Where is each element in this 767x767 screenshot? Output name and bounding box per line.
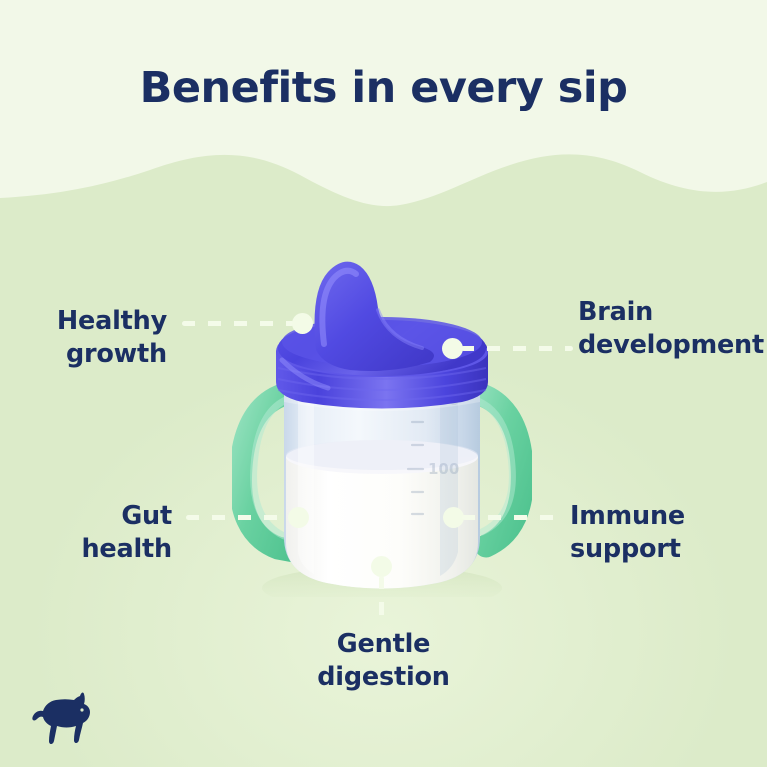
spout: [315, 262, 435, 371]
connector-dot-immune-support: [443, 507, 464, 528]
connector-dash-brain-development: [461, 346, 573, 351]
benefit-label-gentle-digestion: Gentle digestion: [0, 628, 767, 693]
connector-dot-gut-health: [288, 507, 309, 528]
connector-dash-healthy-growth: [182, 321, 294, 326]
connector-dash-gentle-digestion: [379, 576, 384, 624]
connector-dot-brain-development: [442, 338, 463, 359]
poster-canvas: Benefits in every sip: [0, 0, 767, 767]
brand-logo: [30, 690, 100, 746]
benefit-label-gut-health: Gut health: [81, 500, 172, 565]
product-image-sippy-cup: 200ml 150 100: [232, 252, 532, 597]
connector-dash-gut-health: [186, 515, 296, 520]
page-title: Benefits in every sip: [0, 64, 767, 113]
benefit-label-brain-development: Brain development: [578, 296, 764, 361]
benefit-label-immune-support: Immune support: [570, 500, 685, 565]
benefit-label-healthy-growth: Healthy growth: [57, 305, 167, 370]
connector-dot-healthy-growth: [292, 313, 313, 334]
goat-kid-silhouette-icon: [30, 690, 100, 746]
connector-dot-gentle-digestion: [371, 556, 392, 577]
connector-dash-immune-support: [462, 515, 566, 520]
